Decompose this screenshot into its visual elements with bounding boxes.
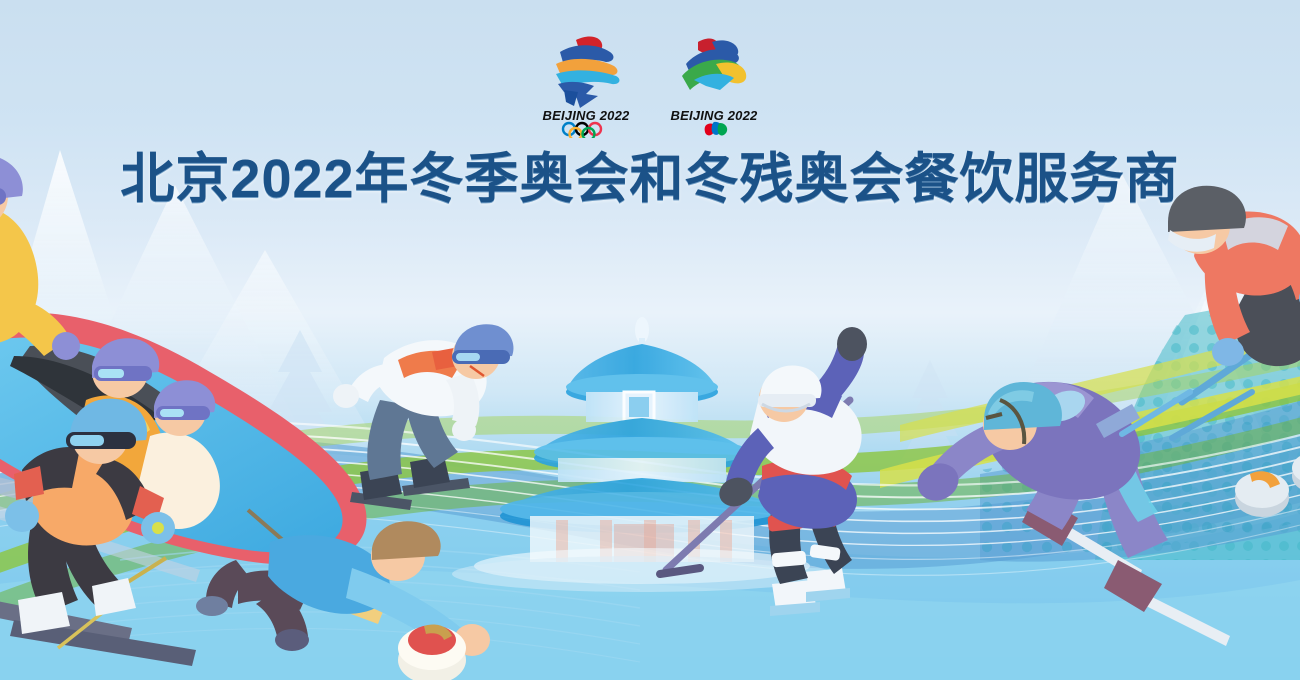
curling-stone-orange-2 bbox=[1292, 451, 1300, 493]
speed-skater bbox=[911, 382, 1230, 646]
paralympic-wordmark: BEIJING 2022 bbox=[671, 108, 759, 123]
beijing-2022-banner: BEIJING 2022 bbox=[0, 0, 1300, 680]
winter-dream-ribbon-icon bbox=[556, 37, 619, 108]
short-track-skater bbox=[333, 324, 513, 510]
page-title: 北京2022年冬季奥会和冬残奥会餐饮服务商 bbox=[0, 147, 1300, 211]
olympic-rings-icon bbox=[563, 123, 601, 138]
curling-stone-red bbox=[398, 624, 466, 680]
olympic-wordmark: BEIJING 2022 bbox=[543, 108, 631, 123]
emblems-row: BEIJING 2022 bbox=[0, 30, 1300, 138]
olympic-emblem: BEIJING 2022 bbox=[536, 30, 636, 138]
flying-ribbon-icon bbox=[682, 39, 746, 90]
ice-hockey-player bbox=[660, 327, 867, 616]
agitos-icon bbox=[705, 122, 728, 136]
curling-stone-orange-1 bbox=[1235, 471, 1289, 517]
paralympic-emblem: BEIJING 2022 bbox=[664, 30, 764, 138]
